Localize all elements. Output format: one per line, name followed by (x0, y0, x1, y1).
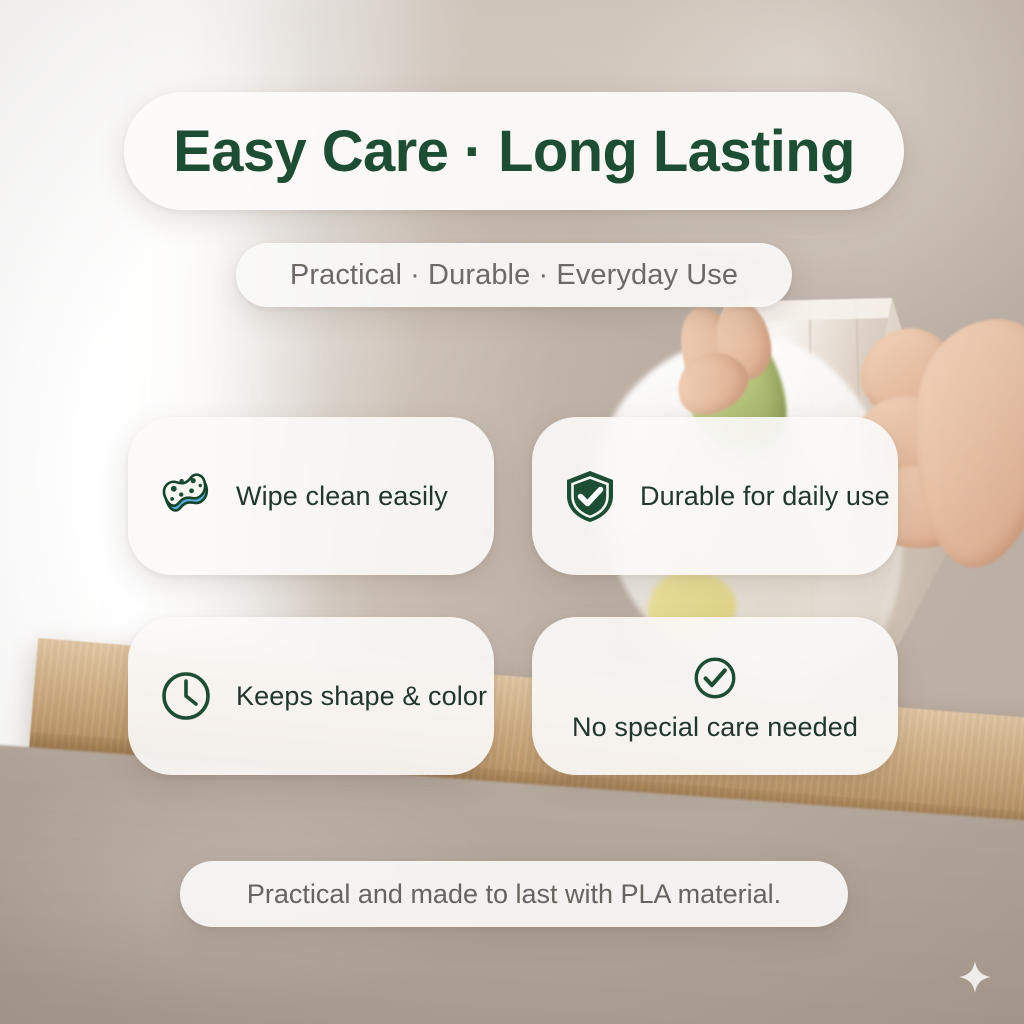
poster-canvas: Easy Care · Long Lasting Practical · Dur… (0, 0, 1024, 1024)
feature-label: Keeps shape & color (236, 681, 487, 712)
feature-label: No special care needed (572, 712, 858, 743)
shield-check-icon (562, 468, 618, 524)
feature-label: Wipe clean easily (236, 481, 448, 512)
subtitle-card: Practical · Durable · Everyday Use (236, 243, 792, 307)
feature-card-keeps-shape[interactable]: Keeps shape & color (128, 617, 494, 775)
feature-card-durable[interactable]: Durable for daily use (532, 417, 898, 575)
clock-icon (158, 668, 214, 724)
sparkle-icon (958, 960, 992, 994)
feature-card-wipe-clean[interactable]: Wipe clean easily (128, 417, 494, 575)
footer-text: Practical and made to last with PLA mate… (247, 879, 781, 910)
footer-card: Practical and made to last with PLA mate… (180, 861, 848, 927)
feature-label: Durable for daily use (640, 481, 890, 512)
check-circle-icon (687, 650, 743, 706)
sponge-icon (158, 468, 214, 524)
feature-card-no-special-care[interactable]: No special care needed (532, 617, 898, 775)
title-card: Easy Care · Long Lasting (124, 92, 904, 210)
page-subtitle: Practical · Durable · Everyday Use (290, 259, 738, 292)
page-title: Easy Care · Long Lasting (173, 118, 855, 185)
